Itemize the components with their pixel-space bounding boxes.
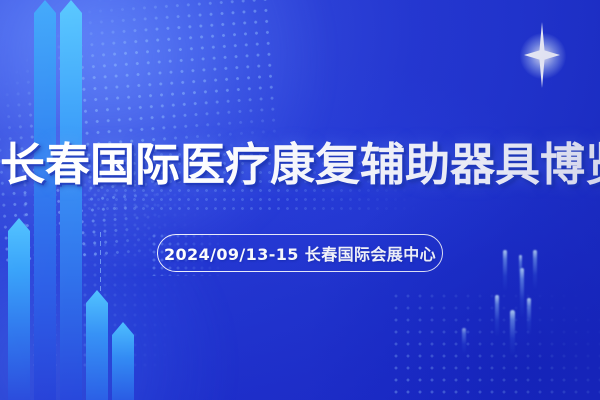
- arrow-bar-3: [60, 0, 82, 400]
- light-streak-1: [495, 295, 499, 337]
- light-streak-8: [462, 328, 466, 354]
- event-info-pill: 2024/09/13-15 长春国际会展中心: [157, 234, 443, 272]
- light-streak-5: [527, 298, 531, 336]
- arrow-bar-5: [112, 322, 134, 400]
- page-title: 长春国际医疗康复辅助器具博览会: [0, 142, 600, 187]
- arrow-bar-4: [86, 290, 108, 400]
- exhibition-banner: 长春国际医疗康复辅助器具博览会 2024/09/13-15 长春国际会展中心: [0, 0, 600, 400]
- arrow-bar-2: [34, 0, 56, 400]
- event-date-venue: 2024/09/13-15 长春国际会展中心: [164, 241, 436, 265]
- light-streak-2: [503, 250, 507, 292]
- light-streak-7: [519, 255, 522, 285]
- arrow-bar-1: [8, 218, 30, 400]
- light-streak-3: [510, 310, 515, 356]
- light-streak-6: [533, 250, 537, 290]
